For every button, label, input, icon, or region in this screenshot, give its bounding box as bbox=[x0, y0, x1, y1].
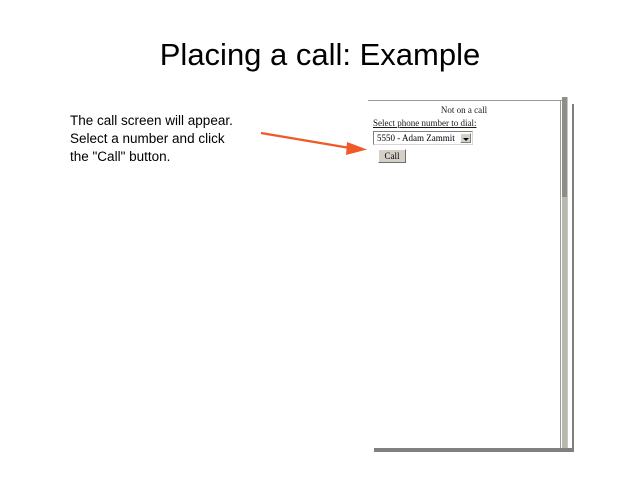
call-status-text: Not on a call bbox=[368, 105, 560, 115]
panel-content-right-edge bbox=[560, 101, 561, 448]
call-button[interactable]: Call bbox=[378, 149, 406, 163]
phone-number-select-value: 5550 - Adam Zammit bbox=[377, 133, 455, 143]
body-text-block: The call screen will appear. Select a nu… bbox=[70, 112, 270, 166]
call-screen-browser-capture: Not on a call Select phone number to dia… bbox=[368, 97, 572, 448]
body-text-line-2: Select a number and click bbox=[70, 130, 270, 148]
phone-number-select[interactable]: 5550 - Adam Zammit bbox=[373, 131, 473, 145]
body-text-line-1: The call screen will appear. bbox=[70, 112, 270, 130]
body-text-line-3: the "Call" button. bbox=[70, 148, 270, 166]
panel-right-rail bbox=[567, 97, 572, 448]
slide-canvas: Placing a call: Example The call screen … bbox=[0, 0, 640, 480]
call-screen-content: Not on a call Select phone number to dia… bbox=[368, 101, 560, 448]
chevron-down-icon[interactable] bbox=[460, 133, 471, 143]
page-title: Placing a call: Example bbox=[0, 38, 640, 72]
dial-number-label: Select phone number to dial: bbox=[373, 118, 476, 128]
pointer-arrow-icon bbox=[255, 122, 373, 160]
